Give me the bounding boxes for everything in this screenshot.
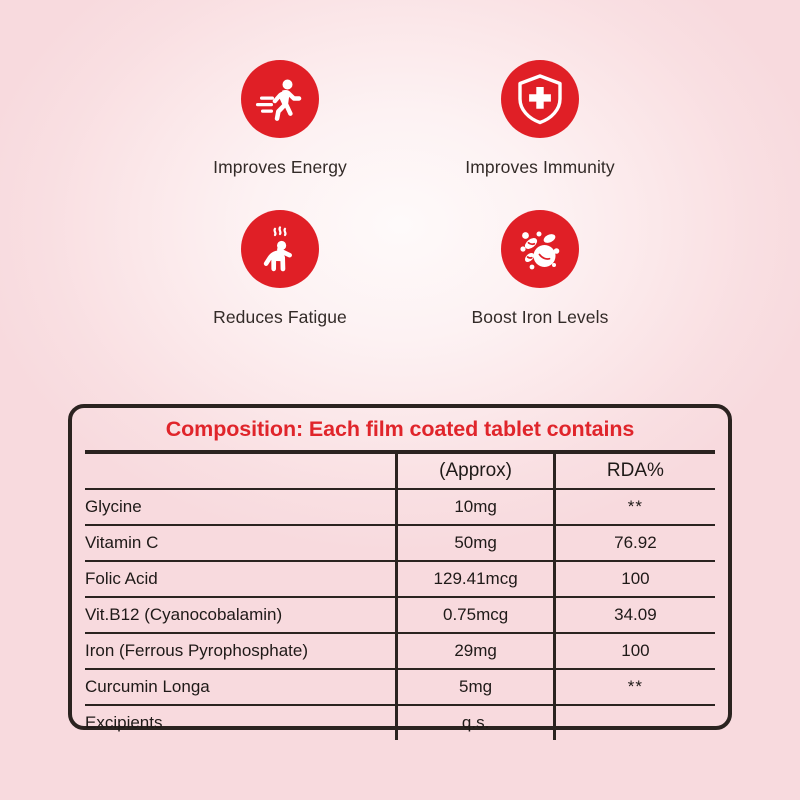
ingredient-name: Glycine xyxy=(85,489,397,525)
ingredient-name: Vit.B12 (Cyanocobalamin) xyxy=(85,597,397,633)
ingredient-qty: 29mg xyxy=(397,633,555,669)
ingredient-qty: 50mg xyxy=(397,525,555,561)
ingredient-name: Folic Acid xyxy=(85,561,397,597)
ingredient-rda xyxy=(554,705,715,740)
composition-title: Composition: Each film coated tablet con… xyxy=(72,408,728,450)
ingredient-qty: q.s. xyxy=(397,705,555,740)
ingredient-rda: 100 xyxy=(554,633,715,669)
table-row: Excipients q.s. xyxy=(85,705,715,740)
running-person-icon xyxy=(241,60,319,138)
ingredient-rda: 34.09 xyxy=(554,597,715,633)
table-row: Curcumin Longa 5mg ** xyxy=(85,669,715,705)
benefit-improves-energy: Improves Energy xyxy=(150,60,410,210)
shield-cross-icon xyxy=(501,60,579,138)
composition-table: (Approx) RDA% Glycine 10mg ** Vitamin C … xyxy=(85,454,715,740)
benefit-label: Boost Iron Levels xyxy=(472,307,609,328)
header-rda: RDA% xyxy=(554,454,715,489)
ingredient-qty: 0.75mcg xyxy=(397,597,555,633)
ingredient-rda: ** xyxy=(554,489,715,525)
benefit-boost-iron-levels: Boost Iron Levels xyxy=(410,210,670,360)
table-header-row: (Approx) RDA% xyxy=(85,454,715,489)
table-row: Folic Acid 129.41mcg 100 xyxy=(85,561,715,597)
benefit-label: Improves Energy xyxy=(213,157,347,178)
header-approx: (Approx) xyxy=(397,454,555,489)
product-benefits-panel: Improves Energy Improves Immunity xyxy=(0,0,800,800)
ingredient-name: Vitamin C xyxy=(85,525,397,561)
ingredient-name: Curcumin Longa xyxy=(85,669,397,705)
composition-table-body: Glycine 10mg ** Vitamin C 50mg 76.92 Fol… xyxy=(85,489,715,740)
ingredient-name: Excipients xyxy=(85,705,397,740)
table-row: Glycine 10mg ** xyxy=(85,489,715,525)
table-row: Iron (Ferrous Pyrophosphate) 29mg 100 xyxy=(85,633,715,669)
benefit-label: Reduces Fatigue xyxy=(213,307,347,328)
table-row: Vitamin C 50mg 76.92 xyxy=(85,525,715,561)
blood-cells-icon xyxy=(501,210,579,288)
benefits-grid: Improves Energy Improves Immunity xyxy=(150,60,670,360)
composition-table-card: Composition: Each film coated tablet con… xyxy=(68,404,732,730)
ingredient-rda: ** xyxy=(554,669,715,705)
benefit-improves-immunity: Improves Immunity xyxy=(410,60,670,210)
ingredient-qty: 129.41mcg xyxy=(397,561,555,597)
ingredient-qty: 10mg xyxy=(397,489,555,525)
benefit-label: Improves Immunity xyxy=(465,157,615,178)
fatigued-person-icon xyxy=(241,210,319,288)
ingredient-rda: 100 xyxy=(554,561,715,597)
table-row: Vit.B12 (Cyanocobalamin) 0.75mcg 34.09 xyxy=(85,597,715,633)
benefit-reduces-fatigue: Reduces Fatigue xyxy=(150,210,410,360)
ingredient-qty: 5mg xyxy=(397,669,555,705)
ingredient-name: Iron (Ferrous Pyrophosphate) xyxy=(85,633,397,669)
ingredient-rda: 76.92 xyxy=(554,525,715,561)
header-ingredient xyxy=(85,454,397,489)
